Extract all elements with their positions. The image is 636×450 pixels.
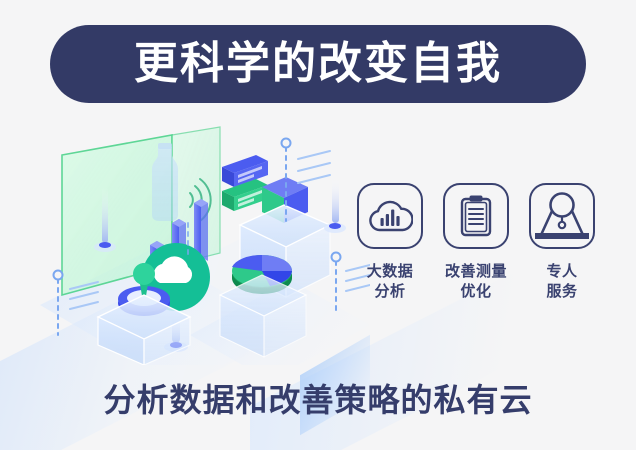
page-title: 更科学的改变自我 — [134, 42, 502, 86]
clipboard-icon-box — [443, 183, 509, 249]
indicator-rod-right — [324, 177, 346, 233]
feature-measurement-optimization[interactable]: 改善测量 优化 — [438, 183, 514, 302]
cloud-bar-chart-icon — [367, 196, 413, 236]
feature-big-data-analysis[interactable]: 大数据 分析 — [352, 183, 428, 302]
feature-list: 大数据 分析 改善测量 优化 — [352, 183, 600, 333]
footer-tagline: 分析数据和改善策略的私有云 — [0, 384, 636, 416]
cloud-bar-chart-icon-box — [357, 183, 423, 249]
hero-illustration — [40, 125, 370, 365]
support-agent-icon — [531, 185, 593, 247]
title-banner: 更科学的改变自我 — [50, 25, 586, 103]
feature-label: 大数据 分析 — [367, 261, 414, 302]
feature-dedicated-service[interactable]: 专人 服务 — [524, 183, 600, 302]
clipboard-icon — [456, 194, 496, 238]
support-agent-icon-box — [529, 183, 595, 249]
feature-label: 专人 服务 — [546, 261, 577, 302]
feature-label: 改善测量 优化 — [445, 261, 507, 302]
poster-canvas: 更科学的改变自我 — [0, 0, 636, 450]
